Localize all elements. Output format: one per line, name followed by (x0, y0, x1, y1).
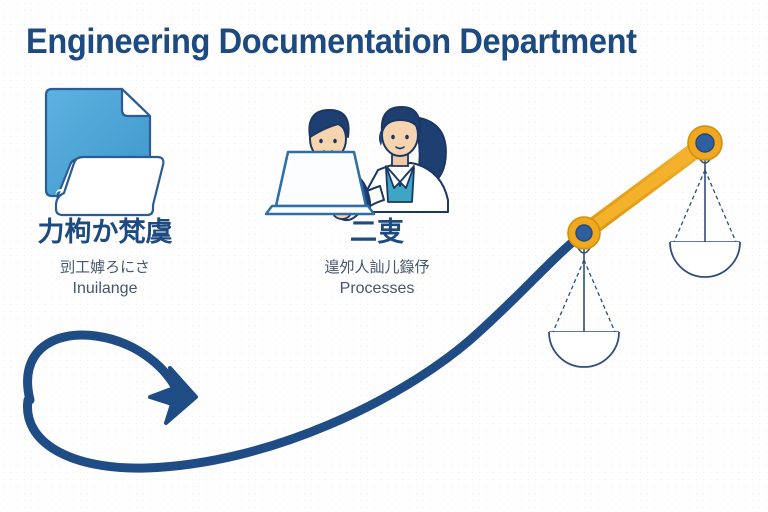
label-subtitle-cjk-2: 遑夘人訕儿籙伃 (282, 257, 472, 278)
label-group-processes: 二叓 遑夘人訕儿籙伃 Processes (282, 216, 472, 299)
scale-pan-right (670, 158, 740, 277)
label-subtitle-latin-1: Inuilange (10, 278, 200, 299)
scale-pan-left (549, 248, 619, 367)
label-group-documents: 力枸か梵虞 剅工嫭ろにさ Inuilange (10, 216, 200, 299)
document-folder-icon (46, 89, 163, 215)
label-subtitle-cjk-1: 剅工嫭ろにさ (10, 257, 200, 278)
label-heading-1: 力枸か梵虞 (10, 216, 200, 248)
label-subtitle-latin-2: Processes (282, 278, 472, 299)
two-colleagues-laptop-icon (266, 107, 448, 220)
page-title: Engineering Documentation Department (26, 20, 637, 64)
slide-canvas: Engineering Documentation Department (0, 0, 768, 512)
label-heading-2: 二叓 (282, 216, 472, 248)
tilted-balance-scale-icon (549, 126, 740, 367)
